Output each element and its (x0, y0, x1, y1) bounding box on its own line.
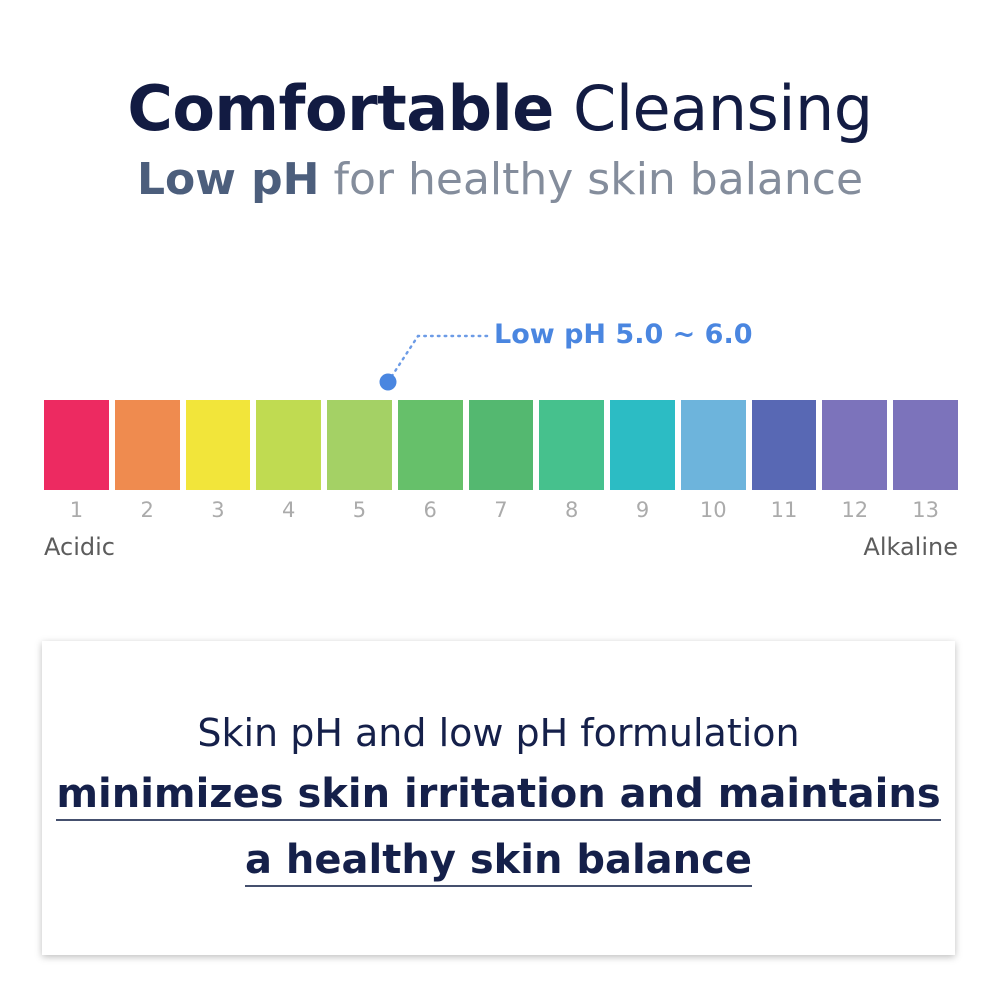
statement-line-2: minimizes skin irritation and maintains (56, 774, 940, 821)
ph-tick-9: 9 (610, 498, 675, 522)
ph-tick-6: 6 (398, 498, 463, 522)
ph-tick-8: 8 (539, 498, 604, 522)
ph-tick-10: 10 (681, 498, 746, 522)
ph-marker-dot (380, 374, 397, 391)
ph-scale-swatches (44, 400, 958, 490)
title-light-word: Cleansing (554, 72, 873, 145)
statement-card-content: Skin pH and low pH formulation minimizes… (42, 641, 955, 887)
ph-tick-7: 7 (469, 498, 534, 522)
ph-swatch-3 (186, 400, 251, 490)
ph-annotation: Low pH 5.0 ~ 6.0 (0, 300, 1000, 400)
ph-tick-5: 5 (327, 498, 392, 522)
alkaline-label: Alkaline (863, 533, 958, 561)
annotation-leader-line-svg (0, 300, 1000, 400)
page-title: Comfortable Cleansing (0, 0, 1000, 140)
ph-swatch-1 (44, 400, 109, 490)
ph-range-label: Low pH 5.0 ~ 6.0 (494, 319, 753, 350)
statement-line-2-wrapper: minimizes skin irritation and maintains (42, 752, 955, 821)
header: Comfortable Cleansing Low pH for healthy… (0, 0, 1000, 202)
ph-tick-11: 11 (752, 498, 817, 522)
statement-line-3-wrapper: a healthy skin balance (42, 821, 955, 887)
statement-card: Skin pH and low pH formulation minimizes… (42, 641, 955, 955)
ph-tick-2: 2 (115, 498, 180, 522)
ph-swatch-7 (469, 400, 534, 490)
ph-tick-4: 4 (256, 498, 321, 522)
ph-tick-13: 13 (893, 498, 958, 522)
subtitle-light-word: for healthy skin balance (320, 154, 864, 205)
ph-swatch-4 (256, 400, 321, 490)
ph-tick-1: 1 (44, 498, 109, 522)
ph-swatch-10 (681, 400, 746, 490)
ph-swatch-5 (327, 400, 392, 490)
ph-scale-endpoints: Acidic Alkaline (44, 533, 958, 561)
leader-line (388, 336, 489, 382)
ph-swatch-2 (115, 400, 180, 490)
statement-line-1: Skin pH and low pH formulation (42, 641, 955, 752)
ph-tick-3: 3 (186, 498, 251, 522)
statement-line-3: a healthy skin balance (245, 840, 752, 887)
ph-swatch-9 (610, 400, 675, 490)
ph-swatch-6 (398, 400, 463, 490)
acidic-label: Acidic (44, 533, 115, 561)
ph-swatch-13 (893, 400, 958, 490)
ph-swatch-8 (539, 400, 604, 490)
ph-tick-12: 12 (822, 498, 887, 522)
page-subtitle: Low pH for healthy skin balance (0, 140, 1000, 202)
subtitle-strong-word: Low pH (137, 154, 320, 205)
title-strong-word: Comfortable (127, 72, 554, 145)
ph-swatch-12 (822, 400, 887, 490)
ph-swatch-11 (752, 400, 817, 490)
ph-scale-tick-labels: 1 2 3 4 5 6 7 8 9 10 11 12 13 (44, 498, 958, 522)
